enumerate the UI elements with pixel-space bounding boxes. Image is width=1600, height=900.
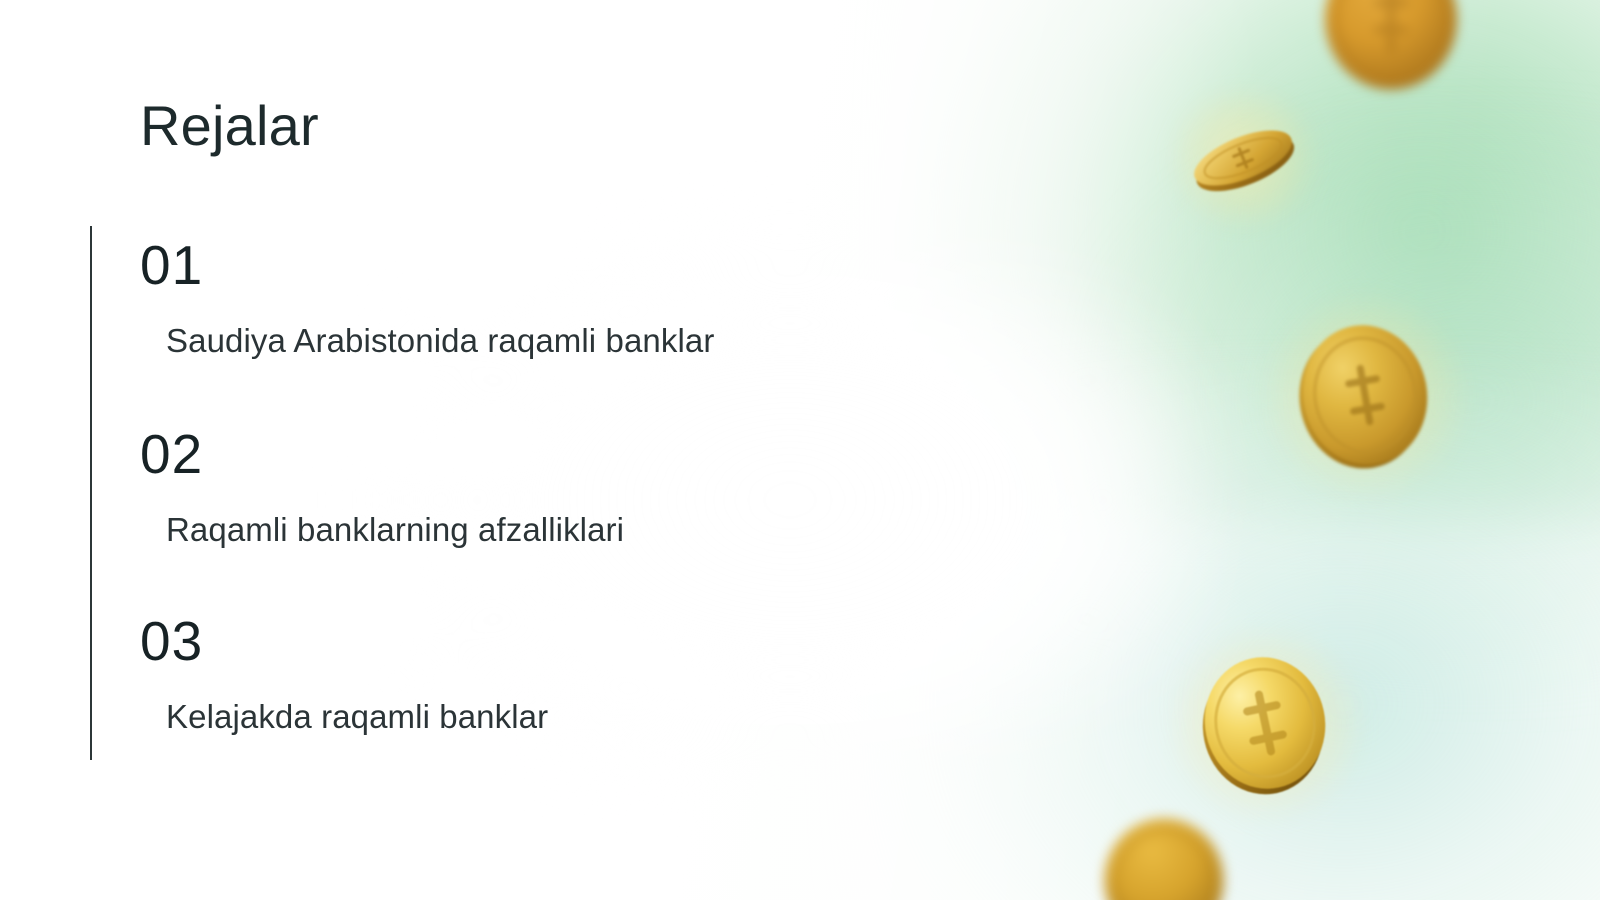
gold-coin-icon bbox=[1098, 812, 1230, 900]
gold-coin-icon bbox=[1288, 318, 1442, 472]
presentation-slide: Rejalar 01 Saudiya Arabistonida raqamli … bbox=[0, 0, 1600, 900]
agenda-divider-rule bbox=[90, 226, 92, 760]
agenda-item-label: Saudiya Arabistonida raqamli banklar bbox=[166, 321, 1020, 361]
gold-coin-icon bbox=[1182, 112, 1304, 204]
agenda-item-label: Raqamli banklarning afzalliklari bbox=[166, 510, 1020, 550]
list-item[interactable]: 02 Raqamli banklarning afzalliklari bbox=[140, 425, 1020, 550]
list-item[interactable]: 01 Saudiya Arabistonida raqamli banklar bbox=[140, 236, 1020, 361]
gold-coin-icon bbox=[1192, 650, 1338, 796]
agenda-item-number: 03 bbox=[140, 612, 1020, 671]
agenda-list: 01 Saudiya Arabistonida raqamli banklar … bbox=[140, 236, 1020, 737]
agenda-item-number: 02 bbox=[140, 425, 1020, 484]
page-title: Rejalar bbox=[140, 95, 319, 157]
gold-coin-icon bbox=[1316, 0, 1466, 94]
agenda-item-label: Kelajakda raqamli banklar bbox=[166, 697, 1020, 737]
list-item[interactable]: 03 Kelajakda raqamli banklar bbox=[140, 612, 1020, 737]
agenda-item-number: 01 bbox=[140, 236, 1020, 295]
